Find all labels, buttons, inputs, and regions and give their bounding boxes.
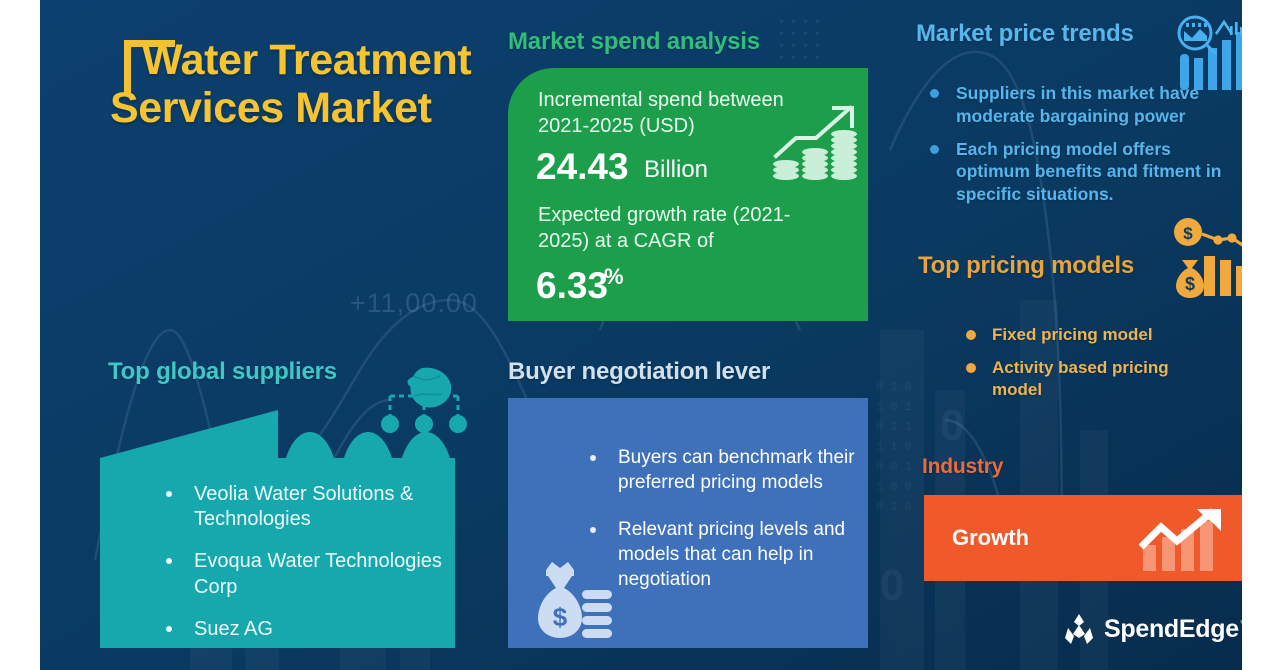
logo-wordmark: SpendEdge [1104, 615, 1239, 643]
growth-arrow-chart-icon [1139, 507, 1235, 573]
pricing-models-list: Fixed pricing model Activity based prici… [920, 324, 1220, 412]
spendedge-arrow-logo [1062, 612, 1096, 646]
section-heading-industry: Industry [922, 455, 1003, 479]
list-item: Evoqua Water Technologies Corp [152, 549, 482, 599]
section-heading-market-spend: Market spend analysis [508, 28, 760, 56]
price-trends-list: Suppliers in this market have moderate b… [886, 82, 1226, 216]
svg-text:0 1 0: 0 1 0 [876, 380, 912, 394]
list-item: Activity based pricing model [960, 357, 1220, 401]
buyer-negotiation-panel: Buyers can benchmark their preferred pri… [508, 398, 868, 648]
list-item: Each pricing model offers optimum benefi… [926, 138, 1226, 206]
section-heading-pricing-models: Top pricing models [918, 252, 1134, 280]
list-item: Relevant pricing levels and models that … [586, 518, 886, 592]
incremental-spend-value: 24.43 [536, 146, 629, 188]
svg-text:$: $ [1185, 274, 1195, 294]
list-item: Veolia Water Solutions & Technologies [152, 482, 482, 532]
money-bag-declining-chart-icon: $ $ [1168, 216, 1242, 300]
growth-rate-label: Expected growth rate (2021-2025) at a CA… [538, 203, 838, 254]
money-bag-coins-icon: $ [530, 556, 620, 640]
incremental-spend-unit: Billion [644, 156, 708, 184]
infographic-poster: 0 1 0 1 0 1 0 1 1 1 1 0 0 0 1 1 0 0 0 1 … [40, 0, 1242, 670]
coin-stacks-growth-icon [770, 102, 860, 192]
svg-text:1 0 1: 1 0 1 [876, 400, 912, 414]
logo-trademark: ™ [1240, 619, 1242, 629]
section-heading-price-trends: Market price trends [916, 20, 1134, 48]
industry-status-label: Growth [952, 525, 1029, 551]
cagr-value: 6.33 [536, 265, 608, 307]
svg-text:0 1 1: 0 1 1 [876, 420, 912, 434]
globe-network-icon [378, 366, 470, 452]
page-title: Water Treatment Services Market [102, 36, 502, 132]
cagr-unit: % [604, 264, 624, 290]
svg-text:$: $ [1183, 224, 1193, 243]
suppliers-list: Veolia Water Solutions & Technologies Ev… [112, 482, 482, 659]
title-line-2: Services Market [110, 84, 502, 132]
svg-text:$: $ [553, 602, 568, 632]
section-heading-buyer-lever: Buyer negotiation lever [508, 358, 770, 386]
spendedge-logo: SpendEdge™ [1062, 612, 1242, 646]
background-watermark-number: +11,00.00 [350, 288, 478, 319]
market-spend-panel: Incremental spend between 2021-2025 (USD… [508, 68, 868, 321]
industry-status-badge: Growth [924, 495, 1242, 581]
price-analytics-icon [1168, 14, 1242, 96]
list-item: Suez AG [152, 617, 482, 642]
title-line-1: Water Treatment [142, 36, 471, 84]
list-item: Fixed pricing model [960, 324, 1220, 346]
list-item: Buyers can benchmark their preferred pri… [586, 446, 886, 495]
suppliers-panel: Veolia Water Solutions & Technologies Ev… [100, 370, 470, 650]
